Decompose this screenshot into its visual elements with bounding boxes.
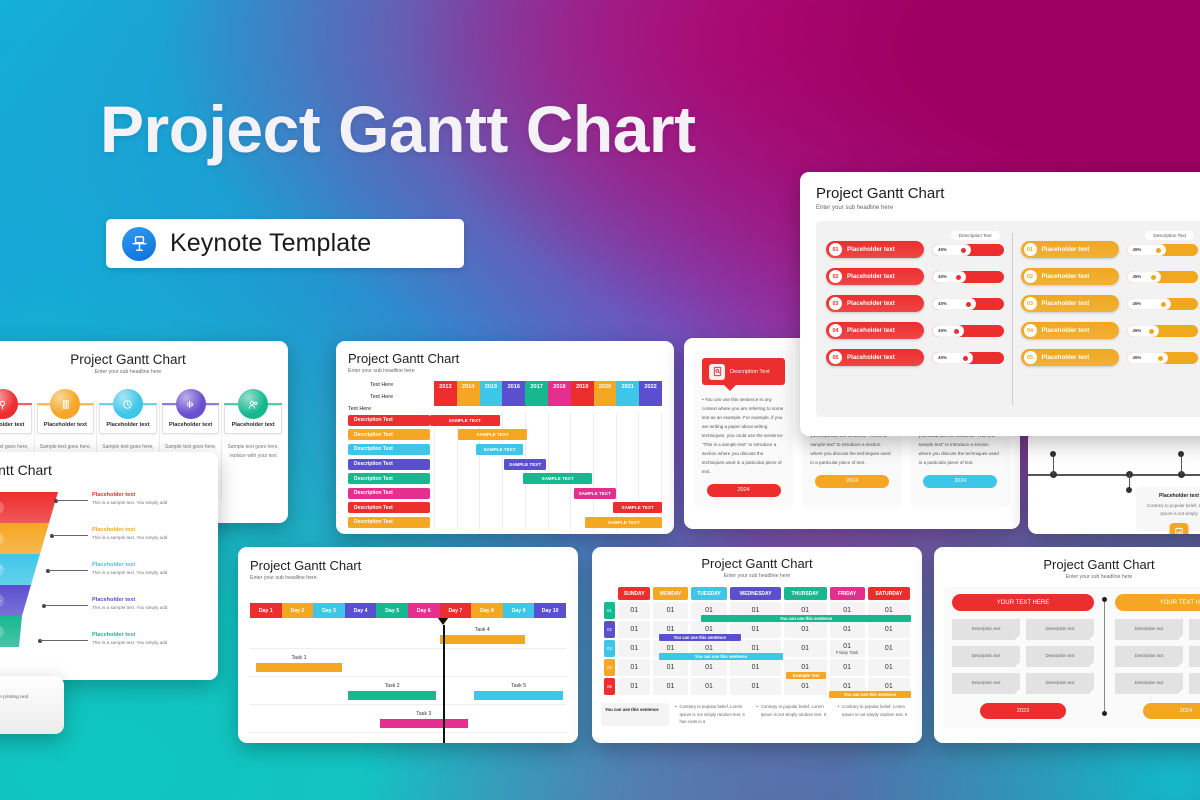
placeholder-row-01[interactable]: 01Placeholder text45%: [826, 241, 1004, 258]
rows-column-right: Description Text 01Placeholder text45%02…: [1021, 231, 1199, 407]
task-bar-1[interactable]: [440, 635, 525, 644]
year-color-cell-2019: [571, 393, 594, 406]
progress-percent: 45%: [1133, 247, 1142, 252]
placeholder-pill-03[interactable]: 03Placeholder text: [1021, 295, 1119, 312]
year-color-cell-2018: [548, 393, 571, 406]
note-body: is simply dummy of the printing and: [0, 694, 55, 703]
progress-bar-02[interactable]: 45%: [932, 271, 1004, 283]
slide-title: Project Gantt Chart: [816, 185, 1200, 202]
note-bullet-icon: •: [838, 703, 840, 726]
slide-title: Project Gantt Chart: [944, 557, 1200, 572]
icon-column-3[interactable]: Placeholder textSample text goes here, r…: [99, 389, 157, 460]
year-header-2021: 2021: [616, 381, 639, 393]
slide-funnel[interactable]: Project Gantt Chart Enter your sub headl…: [0, 452, 218, 680]
task-bar-5[interactable]: [380, 719, 468, 728]
gantt-row-list: Description TextSAMPLE TEXTDescription T…: [348, 413, 662, 530]
clock-target-icon: [113, 389, 143, 419]
timeline-stem-dot-1: [1050, 451, 1056, 457]
gantt-row[interactable]: Description TextSAMPLE TEXT: [348, 486, 662, 501]
group-note[interactable]: Description text: [952, 673, 1020, 694]
row-label: Placeholder text: [847, 354, 895, 361]
description-tag-label: Description Text: [730, 369, 770, 375]
year-header-2014: 2014: [457, 381, 480, 393]
progress-knob[interactable]: [956, 275, 961, 280]
row-label: Placeholder text: [847, 300, 895, 307]
placeholder-row-02[interactable]: 02Placeholder text45%: [826, 268, 1004, 285]
calendar-row-tab-03[interactable]: 03: [604, 640, 615, 657]
year-color-cell-2017: [525, 393, 548, 406]
divider-dot-bottom: [1102, 711, 1107, 716]
funnel-layer-1[interactable]: [0, 492, 58, 523]
note-bullet-icon: •: [756, 703, 758, 726]
calendar-cell[interactable]: 01: [730, 659, 780, 676]
legend-connector: [52, 535, 88, 536]
calendar-cell[interactable]: 01: [830, 621, 865, 638]
slide-title: Project Gantt Chart: [0, 462, 208, 478]
placeholder-pill-02[interactable]: 02Placeholder text: [1021, 268, 1119, 285]
legend-desc: This is a sample text. You simply add: [92, 570, 208, 575]
gantt-row-track: SAMPLE TEXT: [430, 502, 662, 513]
calendar-col-wednesday: WEDNESDAY: [730, 587, 780, 600]
progress-percent: 45%: [1133, 355, 1142, 360]
funnel-legend-item-1[interactable]: Placeholder textThis is a sample text. Y…: [62, 492, 208, 527]
group-note[interactable]: Description text: [1115, 619, 1183, 640]
progress-percent: 45%: [938, 301, 947, 306]
slide-subtitle: Enter your sub headline here: [0, 369, 288, 375]
icon-column-2[interactable]: Placeholder textSample text goes here, r…: [37, 389, 95, 460]
gantt-row-track: SAMPLE TEXT: [430, 444, 662, 455]
progress-knob[interactable]: [954, 329, 959, 334]
calendar-overlay-1[interactable]: You can use this sentence: [701, 615, 911, 622]
placeholder-row-02[interactable]: 02Placeholder text45%: [1021, 268, 1199, 285]
slide-header: Project Gantt Chart Enter your sub headl…: [0, 341, 288, 375]
group-divider-1: [1104, 594, 1105, 719]
keynote-podium-icon: [122, 227, 156, 261]
calendar-note-4: •Contrary to popular belief, Lorem Ipsum…: [838, 703, 913, 726]
group-note[interactable]: Description text: [1026, 673, 1094, 694]
day-header-3: Day 3: [313, 603, 345, 618]
gantt-row-label: Description Text: [348, 488, 430, 499]
keynote-template-badge: Keynote Template: [106, 219, 464, 268]
text-here-group-2[interactable]: YOUR TEXT HEREDescription textDescriptio…: [1115, 594, 1200, 719]
calendar-note-3: •Contrary to popular belief, Lorem Ipsum…: [756, 703, 831, 726]
legend-connector: [56, 500, 88, 501]
calendar-col-thursday: THURSDAY: [784, 587, 827, 600]
day-header-row: Day 1Day 2Day 3Day 4Day 5Day 6Day 7Day 8…: [250, 603, 566, 618]
progress-knob[interactable]: [963, 356, 968, 361]
progress-fill: 45%: [932, 244, 971, 256]
group-note-grid: Description textDescription textDescript…: [952, 619, 1094, 694]
progress-fill: 45%: [1127, 325, 1159, 337]
gear-icon: [0, 594, 4, 607]
placeholder-pill-03[interactable]: 03Placeholder text: [826, 295, 924, 312]
year-button[interactable]: 2024: [815, 475, 889, 488]
placeholder-pill-04[interactable]: 04Placeholder text: [1021, 322, 1119, 339]
calendar-row-tab-01[interactable]: 01: [604, 602, 615, 619]
progress-fill: 45%: [932, 352, 973, 364]
placeholder-pill-01[interactable]: 01Placeholder text: [1021, 241, 1119, 258]
task-lane-2: Task 1: [250, 649, 566, 677]
day-header-9: Day 9: [503, 603, 535, 618]
placeholder-row-04[interactable]: 04Placeholder text45%: [1021, 322, 1199, 339]
note-text: You can use this sentence: [605, 706, 659, 723]
year-color-cell-2021: [616, 393, 639, 406]
calendar-cell[interactable]: 01: [868, 659, 910, 676]
slide-title: Project Gantt Chart: [348, 351, 662, 366]
placeholder-pill-05[interactable]: 05Placeholder text: [1021, 349, 1119, 366]
row-number: 04: [1024, 324, 1037, 337]
rows-column-left: Description Text 01Placeholder text45%02…: [826, 231, 1004, 407]
progress-bar-05[interactable]: 45%: [932, 352, 1004, 364]
progress-fill: 45%: [932, 298, 976, 310]
calendar-cell[interactable]: 01: [618, 659, 650, 676]
calendar-col-tuesday: TUESDAY: [691, 587, 728, 600]
calendar-overlay-5[interactable]: You can use this sentence: [829, 691, 911, 698]
calendar-row-tab-04[interactable]: 04: [604, 659, 615, 676]
group-note-grid: Description textDescription textDescript…: [1115, 619, 1200, 694]
calendar-cell[interactable]: 01: [653, 659, 687, 676]
year-button[interactable]: 2024: [923, 475, 997, 488]
icon-column-5[interactable]: Placeholder textSample text goes here, r…: [224, 389, 282, 460]
funnel-legend-item-5[interactable]: Placeholder textThis is a sample text. Y…: [62, 632, 208, 667]
legend-desc: This is a sample text. You simply add: [92, 605, 208, 610]
gantt-row-track: SAMPLE TEXT: [430, 459, 662, 470]
timeline-stem-1: [1053, 454, 1055, 474]
progress-fill: 45%: [1127, 352, 1168, 364]
legend-connector: [44, 605, 88, 606]
gantt-row-label: Description Text: [348, 459, 430, 470]
placeholder-row-04[interactable]: 04Placeholder text45%: [826, 322, 1004, 339]
funnel-layer-5[interactable]: [0, 616, 22, 647]
calendar-row-label-cell: 03: [604, 640, 615, 657]
year-header-row: 2013201420152016201720182019202020212022: [434, 381, 662, 393]
calendar-cell[interactable]: 01: [784, 621, 827, 638]
placeholder-pill-01[interactable]: 01Placeholder text: [826, 241, 924, 258]
note-text: Contrary to popular belief, Lorem Ipsum …: [680, 703, 751, 726]
year-header-2017: 2017: [525, 381, 548, 393]
progress-bar-03[interactable]: 45%: [1127, 298, 1199, 310]
slide-year-gantt[interactable]: Project Gantt Chart Enter your sub headl…: [336, 341, 674, 534]
year-header-2022: 2022: [639, 381, 662, 393]
calendar-cell[interactable]: 01: [691, 678, 728, 695]
timeline-card-1[interactable]: Placeholder textContrary to popular beli…: [1136, 487, 1200, 531]
funnel-legend-list: Placeholder textThis is a sample text. Y…: [58, 492, 208, 667]
group-note[interactable]: Description text: [1189, 673, 1200, 694]
page-title: Project Gantt Chart: [100, 96, 696, 162]
calendar-cell[interactable]: 01: [618, 621, 650, 638]
gantt-row-label: Description Text: [348, 444, 430, 455]
placeholder-row-05[interactable]: 05Placeholder text45%: [826, 349, 1004, 366]
legend-title: Placeholder text: [92, 562, 208, 568]
row-label: Placeholder text: [1042, 354, 1090, 361]
progress-percent: 45%: [938, 274, 947, 279]
row-label: Placeholder text: [847, 246, 895, 253]
calendar-cell[interactable]: 01Friday Task: [830, 640, 865, 657]
calendar-col-monday: MONDAY: [653, 587, 687, 600]
progress-bar-05[interactable]: 45%: [1127, 352, 1199, 364]
people-icon: [238, 389, 268, 419]
progress-knob[interactable]: [961, 248, 966, 253]
column-divider: [221, 403, 222, 500]
progress-bar-04[interactable]: 45%: [932, 325, 1004, 337]
year-color-cell-2013: [434, 393, 457, 406]
progress-fill: 45%: [1127, 298, 1171, 310]
gantt-row-track: SAMPLE TEXT: [430, 488, 662, 499]
task-bar-3[interactable]: [348, 691, 436, 700]
row-number: 01: [1024, 243, 1037, 256]
note-bullet-icon: •: [675, 703, 677, 726]
progress-knob[interactable]: [1151, 275, 1156, 280]
gantt-row-label: Description Text: [348, 429, 430, 440]
gantt-bar[interactable]: SAMPLE TEXT: [523, 473, 593, 484]
calendar-table: SUNDAYMONDAYTUESDAYWEDNESDAYTHURSDAYFRID…: [601, 585, 913, 697]
group-year-button[interactable]: 2023: [980, 703, 1066, 719]
placeholder-pill-05[interactable]: 05Placeholder text: [826, 349, 924, 366]
calendar-cell[interactable]: 01: [784, 640, 827, 657]
calendar-corner: [604, 587, 615, 600]
year-header-2019: 2019: [571, 381, 594, 393]
timeline-card-title: Placeholder text: [1142, 493, 1200, 499]
calendar-row-tab-02[interactable]: 02: [604, 621, 615, 638]
day-header-6: Day 6: [408, 603, 440, 618]
calendar-row-04: 0401010101010101: [604, 659, 910, 676]
description-tag: Description Text: [702, 358, 785, 385]
placeholder-row-03[interactable]: 03Placeholder text45%: [826, 295, 1004, 312]
calendar-cell[interactable]: 01: [618, 602, 650, 619]
calendar-overlay-3[interactable]: You can use this sentence: [659, 653, 784, 660]
legend-desc: This is a sample text. You simply add: [92, 500, 208, 505]
legend-title: Placeholder text: [92, 632, 208, 638]
calendar-cell[interactable]: 01: [653, 678, 687, 695]
timeline-card-desc: Contrary to popular belief, Lorem Ipsum …: [1142, 502, 1200, 517]
slide-subtitle: Enter your sub headline here: [250, 575, 566, 581]
slide-day-gantt[interactable]: Project Gantt Chart Enter your sub headl…: [238, 547, 578, 743]
calendar-row-02: 0201010101010101: [604, 621, 910, 638]
funnel-legend-item-4[interactable]: Placeholder textThis is a sample text. Y…: [62, 597, 208, 632]
leaf-icon: [0, 563, 4, 576]
column-divider: [1012, 233, 1013, 405]
slide-title: Project Gantt Chart: [0, 352, 288, 367]
row-number: 05: [829, 351, 842, 364]
group-note[interactable]: Description text: [1026, 646, 1094, 667]
legend-title: Placeholder text: [92, 527, 208, 533]
calendar-overlay-2[interactable]: You can use this sentence: [659, 634, 741, 641]
day-header-1: Day 1: [250, 603, 282, 618]
progress-bar-04[interactable]: 45%: [1127, 325, 1199, 337]
timeline-stem-dot-3: [1178, 451, 1184, 457]
progress-bar-02[interactable]: 45%: [1127, 271, 1199, 283]
slide-weekly-calendar[interactable]: Project Gantt Chart Enter your sub headl…: [592, 547, 922, 743]
search-document-icon: [709, 364, 725, 380]
progress-knob[interactable]: [966, 302, 971, 307]
axis-label-1: Text Here: [370, 382, 393, 388]
year-header-2016: 2016: [502, 381, 525, 393]
day-header-4: Day 4: [345, 603, 377, 618]
group-year-button[interactable]: 2024: [1143, 703, 1200, 719]
row-label: Placeholder text: [1042, 327, 1090, 334]
row-label: Placeholder text: [1042, 300, 1090, 307]
calendar-cell[interactable]: 01: [784, 678, 827, 695]
task-lane-3: Task 2Task 5: [250, 677, 566, 705]
slide-title: Project Gantt Chart: [601, 556, 913, 571]
progress-knob[interactable]: [1161, 302, 1166, 307]
progress-fill: 45%: [1127, 271, 1161, 283]
description-header-left: Description Text: [951, 231, 1000, 240]
gantt-bar[interactable]: SAMPLE TEXT: [476, 444, 522, 455]
timeline-stem-3: [1181, 454, 1183, 474]
axis-label-2: Text Here: [370, 394, 393, 400]
gantt-bar[interactable]: SAMPLE TEXT: [504, 459, 546, 470]
year-color-cell-2020: [594, 393, 617, 406]
day-header-5: Day 5: [376, 603, 408, 618]
task-lane-1: Task 4: [250, 621, 566, 649]
axis-label-3: Text Here: [348, 406, 371, 412]
calendar-overlay-4[interactable]: Example Text: [786, 672, 826, 679]
task-label-3: Task 2: [385, 683, 400, 689]
description-card-1[interactable]: Description Text• You can use this sente…: [694, 350, 793, 507]
calendar-cell[interactable]: 01: [730, 678, 780, 695]
progress-knob[interactable]: [1156, 248, 1161, 253]
gantt-row[interactable]: Description TextSAMPLE TEXT: [348, 442, 662, 457]
funnel-body: Placeholder textThis is a sample text. Y…: [0, 492, 208, 667]
gantt-row[interactable]: Description TextSAMPLE TEXT: [348, 457, 662, 472]
year-header-2015: 2015: [480, 381, 503, 393]
icon-column-1[interactable]: Placeholder textSample text goes here, r…: [0, 389, 32, 460]
funnel-layer-2[interactable]: [0, 523, 49, 554]
calendar-row-label-cell: 02: [604, 621, 615, 638]
group-note[interactable]: Description text: [952, 646, 1020, 667]
calendar-note-list: You can use this sentence•Contrary to po…: [601, 703, 913, 726]
gantt-bar[interactable]: SAMPLE TEXT: [585, 517, 662, 528]
day-header-8: Day 8: [471, 603, 503, 618]
calendar-note-1: You can use this sentence: [601, 703, 669, 726]
gantt-bar[interactable]: SAMPLE TEXT: [430, 415, 500, 426]
progress-knob[interactable]: [1158, 356, 1163, 361]
progress-percent: 45%: [1133, 274, 1142, 279]
rocket-icon: [0, 532, 4, 545]
day-header-10: Day 10: [534, 603, 566, 618]
calendar-row-label-cell: 01: [604, 602, 615, 619]
gantt-row[interactable]: Description TextSAMPLE TEXT: [348, 413, 662, 428]
progress-bar-03[interactable]: 45%: [932, 298, 1004, 310]
slide-title: Project Gantt Chart: [250, 558, 566, 573]
gantt-row-label: Description Text: [348, 517, 430, 528]
placeholder-row-01[interactable]: 01Placeholder text45%: [1021, 241, 1199, 258]
gantt-row[interactable]: Description TextSAMPLE TEXT: [348, 501, 662, 516]
funnel-legend-item-2[interactable]: Placeholder textThis is a sample text. Y…: [62, 527, 208, 562]
description-header-right: Description Text: [1145, 231, 1194, 240]
task-lane-4: Task 3: [250, 705, 566, 733]
task-bar-4[interactable]: [474, 691, 562, 700]
legend-title: Placeholder text: [92, 597, 208, 603]
calendar-cell[interactable]: 01: [830, 659, 865, 676]
group-note[interactable]: Description text: [1115, 646, 1183, 667]
slide-timeline-dots[interactable]: Placeholder textContrary to popular beli…: [1028, 430, 1200, 534]
row-number: 02: [1024, 270, 1037, 283]
dollar-icon: [0, 625, 4, 638]
placeholder-pill-04[interactable]: 04Placeholder text: [826, 322, 924, 339]
slide-text-here[interactable]: Project Gantt Chart Enter your sub headl…: [934, 547, 1200, 743]
placeholder-pill-02[interactable]: 02Placeholder text: [826, 268, 924, 285]
note-text: Contrary to popular belief, Lorem Ipsum …: [842, 703, 913, 726]
calendar-cell[interactable]: 01: [868, 621, 910, 638]
calendar-row-tab-05[interactable]: 05: [604, 678, 615, 695]
calendar-col-sunday: SUNDAY: [618, 587, 650, 600]
calendar-cell[interactable]: 01: [868, 640, 910, 657]
divider-line: [1104, 600, 1105, 713]
gantt-row[interactable]: Description TextSAMPLE TEXT: [348, 515, 662, 530]
friday-task-label: Friday Task: [830, 650, 865, 655]
progress-percent: 45%: [938, 328, 947, 333]
day-header-7: Day 7: [440, 603, 472, 618]
calendar-cell[interactable]: 01: [618, 678, 650, 695]
funnel-legend-item-3[interactable]: Placeholder textThis is a sample text. Y…: [62, 562, 208, 597]
funnel-layer-4[interactable]: [0, 585, 31, 616]
gantt-bar[interactable]: SAMPLE TEXT: [613, 502, 662, 513]
year-color-row: [434, 393, 662, 406]
divider-dot-top: [1102, 597, 1107, 602]
calendar-row-label-cell: 04: [604, 659, 615, 676]
group-header-button[interactable]: YOUR TEXT HERE: [952, 594, 1094, 611]
progress-fill: 45%: [932, 271, 966, 283]
progress-percent: 45%: [1133, 301, 1142, 306]
funnel-layer-3[interactable]: [0, 554, 40, 585]
placeholder-row-05[interactable]: 05Placeholder text45%: [1021, 349, 1199, 366]
gantt-bar[interactable]: SAMPLE TEXT: [574, 488, 616, 499]
group-note[interactable]: Description text: [1189, 619, 1200, 640]
progress-percent: 45%: [938, 247, 947, 252]
icon-column-4[interactable]: Placeholder textSample text goes here, r…: [162, 389, 220, 460]
task-label-2: Task 1: [291, 655, 306, 661]
row-label: Placeholder text: [1042, 273, 1090, 280]
gantt-row[interactable]: Description TextSAMPLE TEXT: [348, 471, 662, 486]
gantt-row[interactable]: Description TextSAMPLE TEXT: [348, 428, 662, 443]
progress-bar-01[interactable]: 45%: [932, 244, 1004, 256]
calendar-header-row: SUNDAYMONDAYTUESDAYWEDNESDAYTHURSDAYFRID…: [604, 587, 910, 600]
group-note[interactable]: Description text: [1189, 646, 1200, 667]
task-bar-2[interactable]: [256, 663, 341, 672]
group-note[interactable]: Description text: [1026, 619, 1094, 640]
legend-connector: [40, 640, 88, 641]
legend-desc: This is a sample text. You simply add: [92, 535, 208, 540]
slide-subtitle: Enter your sub headline here: [944, 574, 1200, 580]
task-label-4: Task 5: [511, 683, 526, 689]
slide-note-card[interactable]: Title Goes Here is simply dummy of the p…: [0, 676, 64, 734]
progress-knob[interactable]: [1149, 329, 1154, 334]
placeholder-row-03[interactable]: 03Placeholder text45%: [1021, 295, 1199, 312]
year-color-cell-2022: [639, 393, 662, 406]
location-pin-icon: [0, 501, 4, 514]
slide-subtitle: Enter your sub headline here: [0, 480, 208, 486]
text-here-group-1[interactable]: YOUR TEXT HEREDescription textDescriptio…: [952, 594, 1094, 719]
row-number: 03: [829, 297, 842, 310]
calendar-cell[interactable]: 01: [691, 659, 728, 676]
progress-bar-01[interactable]: 45%: [1127, 244, 1199, 256]
group-note[interactable]: Description text: [1115, 673, 1183, 694]
slide-header: Project Gantt Chart Enter your sub headl…: [944, 557, 1200, 580]
gantt-row-label: Description Text: [348, 473, 430, 484]
year-button[interactable]: 2024: [707, 484, 781, 497]
group-note[interactable]: Description text: [952, 619, 1020, 640]
calendar-cell-value: 01: [830, 643, 865, 650]
slide-placeholder-rows[interactable]: Project Gantt Chart Enter your sub headl…: [800, 172, 1200, 436]
calendar-col-saturday: SATURDAY: [868, 587, 910, 600]
gantt-bar[interactable]: SAMPLE TEXT: [458, 429, 528, 440]
calendar-cell[interactable]: 01: [653, 602, 687, 619]
group-header-button[interactable]: YOUR TEXT HERE: [1115, 594, 1200, 611]
chart-document-icon: [1170, 523, 1189, 534]
calendar-cell[interactable]: 01: [618, 640, 650, 657]
